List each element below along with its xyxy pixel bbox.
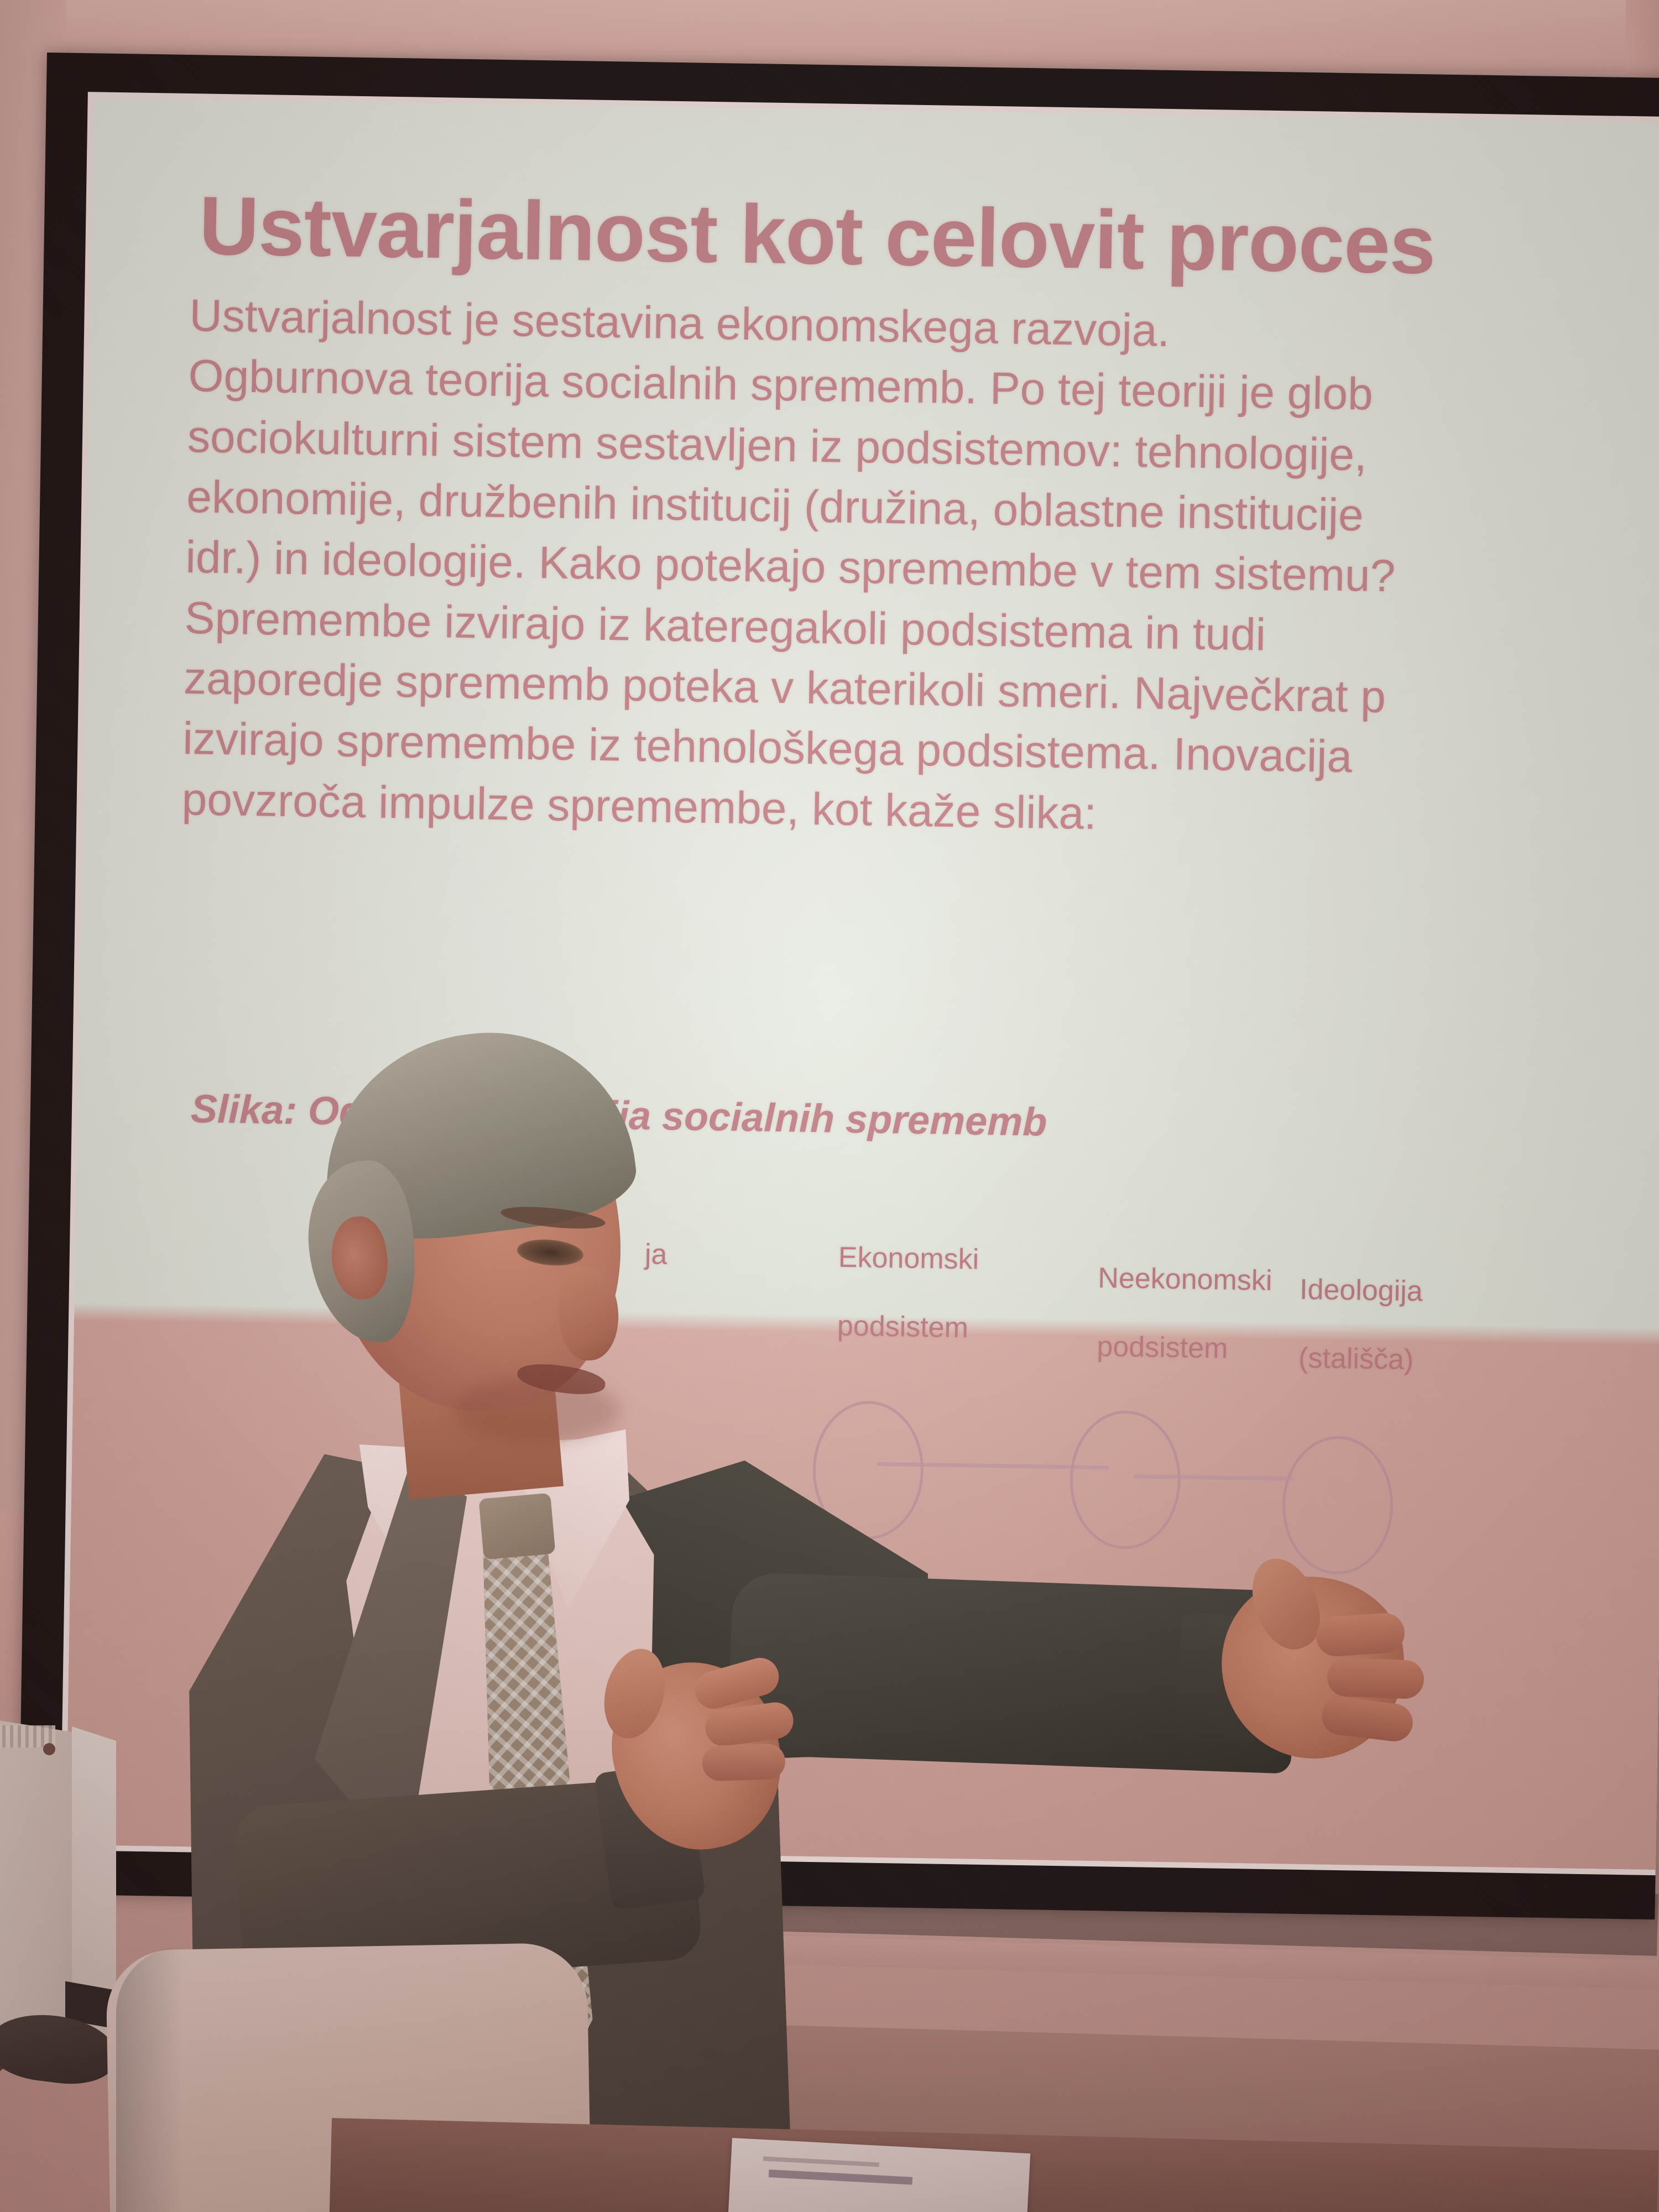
finger [1327,1657,1425,1699]
diagram-node-ellipse [1069,1410,1182,1550]
necktie-knot [478,1493,555,1560]
finger [702,1743,786,1781]
slide-body: Ustvarjalnost je sestavina ekonomskega r… [181,287,1659,857]
chin-shadow [453,1377,619,1443]
diagram-node-ellipse [1281,1435,1394,1575]
chair-shadow [116,1947,182,2212]
diagram-label-noneconomic: Neekonomski podsistem [1097,1264,1272,1364]
diagram-label-ideology: Ideologija (stališča) [1298,1275,1423,1374]
monitor-power-led [43,1743,55,1755]
photo-scene: Ustvarjalnost kot celovit proces Ustvarj… [0,0,1659,2212]
finger [1315,1612,1406,1658]
slide-title: Ustvarjalnost kot celovit proces [199,182,1659,294]
